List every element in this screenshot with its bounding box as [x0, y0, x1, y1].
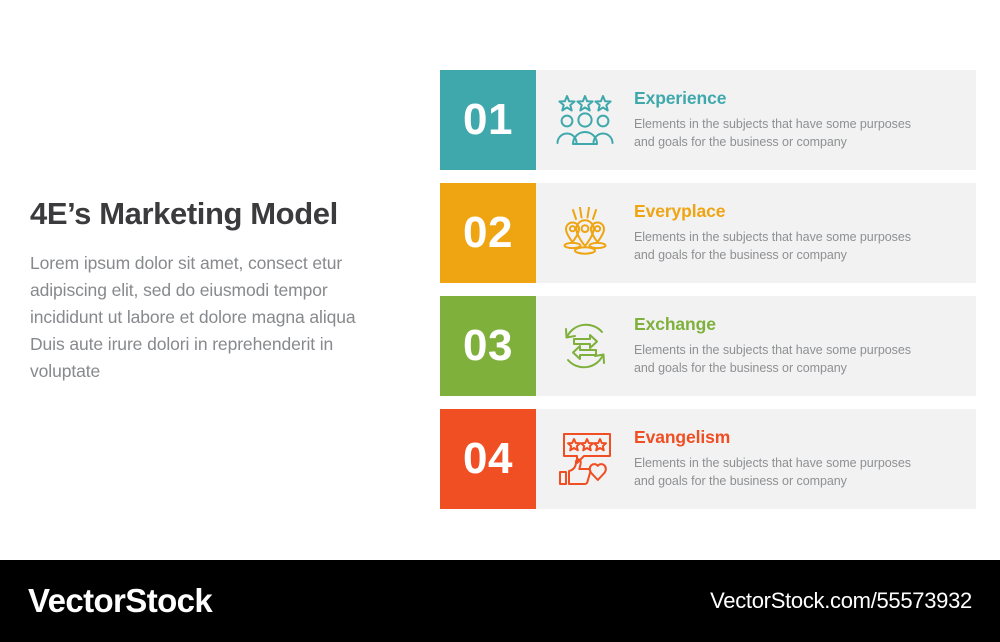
number-block: 01 — [440, 70, 536, 170]
item-description: Elements in the subjects that have some … — [634, 228, 952, 264]
intro-description: Lorem ipsum dolor sit amet, consect etur… — [30, 250, 370, 386]
item-text: Exchange Elements in the subjects that h… — [634, 296, 976, 396]
model-list: 01 Experience Elements in the subjects — [440, 70, 976, 509]
item-text: Evangelism Elements in the subjects that… — [634, 409, 976, 509]
vectorstock-logo: VectorStock — [28, 582, 212, 620]
list-item[interactable]: 02 — [440, 183, 976, 283]
people-stars-icon — [536, 70, 634, 170]
item-number: 02 — [463, 211, 513, 255]
list-item[interactable]: 03 Exchange Elements in the subjects tha… — [440, 296, 976, 396]
item-number: 04 — [463, 437, 513, 481]
item-text: Experience Elements in the subjects that… — [634, 70, 976, 170]
exchange-arrows-icon — [536, 296, 634, 396]
footer-bar: VectorStock VectorStock.com/55573932 — [0, 560, 1000, 642]
item-title: Exchange — [634, 315, 952, 334]
list-item[interactable]: 04 Evangelism Elements in the subjects t… — [440, 409, 976, 509]
item-title: Everyplace — [634, 202, 952, 221]
item-description: Elements in the subjects that have some … — [634, 454, 952, 490]
number-block: 02 — [440, 183, 536, 283]
vectorstock-url: VectorStock.com/55573932 — [710, 588, 972, 614]
item-number: 01 — [463, 98, 513, 142]
page-title: 4E’s Marketing Model — [30, 196, 410, 232]
item-number: 03 — [463, 324, 513, 368]
number-block: 03 — [440, 296, 536, 396]
infographic-canvas: 4E’s Marketing Model Lorem ipsum dolor s… — [0, 0, 1000, 560]
map-pins-icon — [536, 183, 634, 283]
item-title: Experience — [634, 89, 952, 108]
item-text: Everyplace Elements in the subjects that… — [634, 183, 976, 283]
intro-block: 4E’s Marketing Model Lorem ipsum dolor s… — [30, 196, 410, 385]
number-block: 04 — [440, 409, 536, 509]
review-thumbsup-heart-icon — [536, 409, 634, 509]
item-description: Elements in the subjects that have some … — [634, 341, 952, 377]
item-description: Elements in the subjects that have some … — [634, 115, 952, 151]
item-title: Evangelism — [634, 428, 952, 447]
list-item[interactable]: 01 Experience Elements in the subjects — [440, 70, 976, 170]
